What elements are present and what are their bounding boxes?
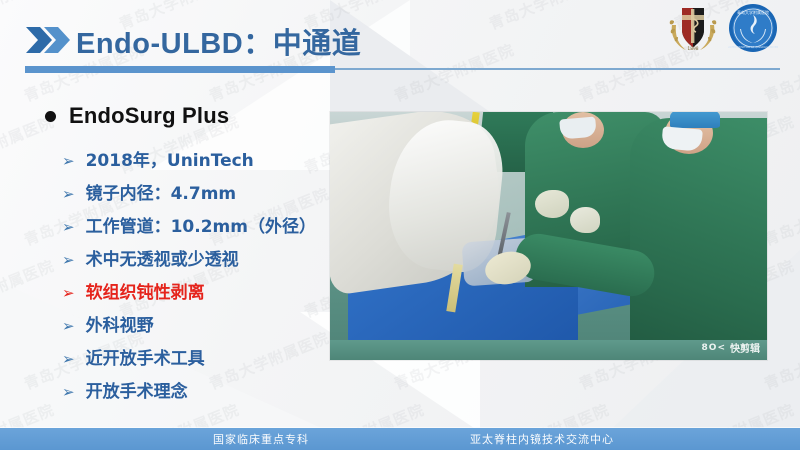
arrow-bullet-icon: ➢ — [62, 214, 75, 240]
title-rule-thick — [25, 66, 335, 73]
photo-surgeon-right-gown — [630, 118, 767, 360]
sub-bullet-label: 近开放手术工具 — [86, 346, 205, 372]
title-rule-thin — [335, 68, 780, 70]
sub-bullet-item: ➢镜子内径：4.7mm — [62, 181, 342, 214]
logo-group: 1898 青岛大学附属医院 AFFILIATED HOSPITAL OF QIN… — [666, 4, 778, 56]
crest-year: 1898 — [687, 46, 698, 52]
video-editor-watermark: 8O< 快剪辑 — [702, 340, 760, 355]
university-crest-logo: 1898 — [666, 3, 720, 58]
slide-footer: 国家临床重点专科 亚太脊柱内镜技术交流中心 — [0, 428, 800, 450]
arrow-bullet-icon: ➢ — [62, 181, 75, 207]
double-chevron-icon — [26, 25, 70, 55]
arrow-bullet-icon: ➢ — [62, 148, 75, 174]
page-title-latin: Endo-ULBD — [76, 28, 243, 60]
sub-bullet-item: ➢开放手术理念 — [62, 379, 342, 412]
arrow-bullet-icon: ➢ — [62, 313, 75, 339]
affiliated-hospital-seal-logo: 青岛大学附属医院 AFFILIATED HOSPITAL OF QINGDAO … — [728, 3, 778, 58]
footer-left: 国家临床重点专科 — [213, 430, 309, 448]
main-bullet: EndoSurg Plus — [45, 103, 229, 129]
sub-bullet-item: ➢术中无透视或少透视 — [62, 247, 342, 280]
watermark-label: 快剪辑 — [730, 340, 760, 355]
sub-bullet-label: 外科视野 — [86, 313, 154, 339]
sub-bullet-item: ➢外科视野 — [62, 313, 342, 346]
footer-right-label: 亚太脊柱内镜技术交流中心 — [470, 433, 614, 446]
sub-bullet-item: ➢2018年，UninTech — [62, 148, 342, 181]
arrow-bullet-icon: ➢ — [62, 346, 75, 372]
sub-bullet-item: ➢软组织钝性剥离 — [62, 280, 342, 313]
sub-bullet-label: 镜子内径：4.7mm — [86, 181, 237, 207]
sub-bullet-item: ➢近开放手术工具 — [62, 346, 342, 379]
sub-bullet-label: 2018年，UninTech — [86, 148, 254, 174]
main-bullet-label: EndoSurg Plus — [69, 103, 229, 129]
footer-right: 亚太脊柱内镜技术交流中心 — [470, 430, 614, 448]
arrow-bullet-icon: ➢ — [62, 379, 75, 405]
photo-surgeon-right-cap — [670, 112, 720, 128]
bullet-dot-icon — [45, 111, 56, 122]
page-title: Endo-ULBD：中通道 — [76, 20, 361, 62]
arrow-bullet-icon: ➢ — [62, 280, 75, 306]
sub-bullet-item: ➢工作管道：10.2mm（外径） — [62, 214, 342, 247]
sub-bullet-label: 软组织钝性剥离 — [86, 280, 205, 306]
photo-gloved-hand-lower — [570, 207, 600, 233]
photo-gloved-hand-upper — [535, 190, 569, 218]
slide-header: Endo-ULBD：中通道 — [0, 0, 800, 80]
sub-bullet-label: 开放手术理念 — [86, 379, 188, 405]
watermark-text: 青岛大学附属医院 — [0, 255, 57, 322]
slide-canvas: 青岛大学附属医院青岛大学附属医院青岛大学附属医院青岛大学附属医院青岛大学附属医院… — [0, 0, 800, 450]
page-title-cn: 中通道 — [273, 26, 362, 60]
footer-left-label: 国家临床重点专科 — [213, 433, 309, 446]
svg-text:AFFILIATED HOSPITAL OF QINGDAO: AFFILIATED HOSPITAL OF QINGDAO UNIVERSIT… — [728, 45, 778, 49]
operating-room-photo: 8O< 快剪辑 — [330, 112, 767, 360]
watermark-marks: 8O< — [702, 343, 726, 353]
sub-bullet-list: ➢2018年，UninTech➢镜子内径：4.7mm➢工作管道：10.2mm（外… — [62, 148, 342, 412]
svg-text:青岛大学附属医院: 青岛大学附属医院 — [737, 9, 769, 15]
sub-bullet-label: 工作管道：10.2mm（外径） — [86, 214, 316, 240]
sub-bullet-label: 术中无透视或少透视 — [86, 247, 239, 273]
arrow-bullet-icon: ➢ — [62, 247, 75, 273]
page-title-separator: ： — [243, 26, 273, 60]
